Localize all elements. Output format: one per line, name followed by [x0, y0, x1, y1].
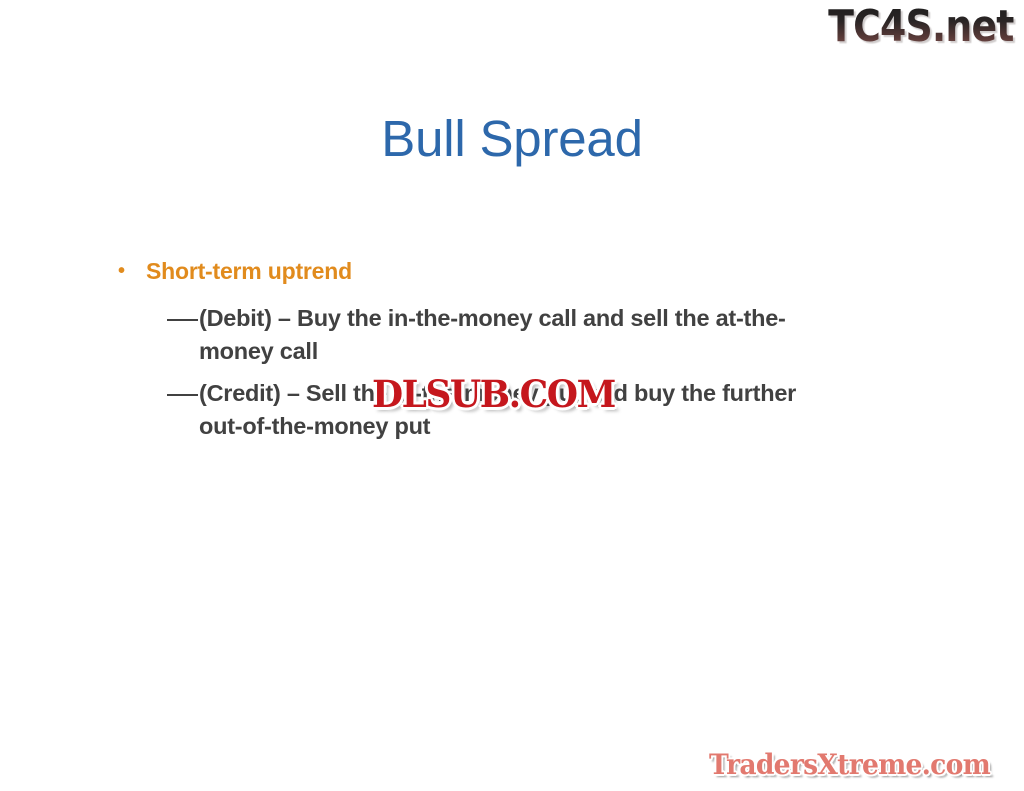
- sub-bullet-debit: (Debit) – Buy the in-the-money call and …: [118, 302, 818, 368]
- tc4s-logo: TC4S.net: [829, 2, 1014, 52]
- sub-bullet-debit-text: (Debit) – Buy the in-the-money call and …: [154, 302, 799, 368]
- bullet-dot-icon: •: [118, 256, 146, 286]
- slide-title: Bull Spread: [0, 108, 1024, 170]
- em-dash-icon: [118, 377, 154, 410]
- bullet-level1-label: Short-term uptrend: [146, 256, 818, 286]
- slide-body: • Short-term uptrend (Debit) – Buy the i…: [118, 256, 818, 452]
- dlsub-watermark: DLSUB.COM: [372, 374, 615, 414]
- tradersxtreme-logo: TradersXtreme.com: [709, 748, 990, 782]
- em-dash-icon: [118, 302, 154, 335]
- bullet-level1: • Short-term uptrend: [118, 256, 818, 286]
- presentation-slide: TC4S.net TC4S.net Bull Spread • Short-te…: [0, 0, 1024, 791]
